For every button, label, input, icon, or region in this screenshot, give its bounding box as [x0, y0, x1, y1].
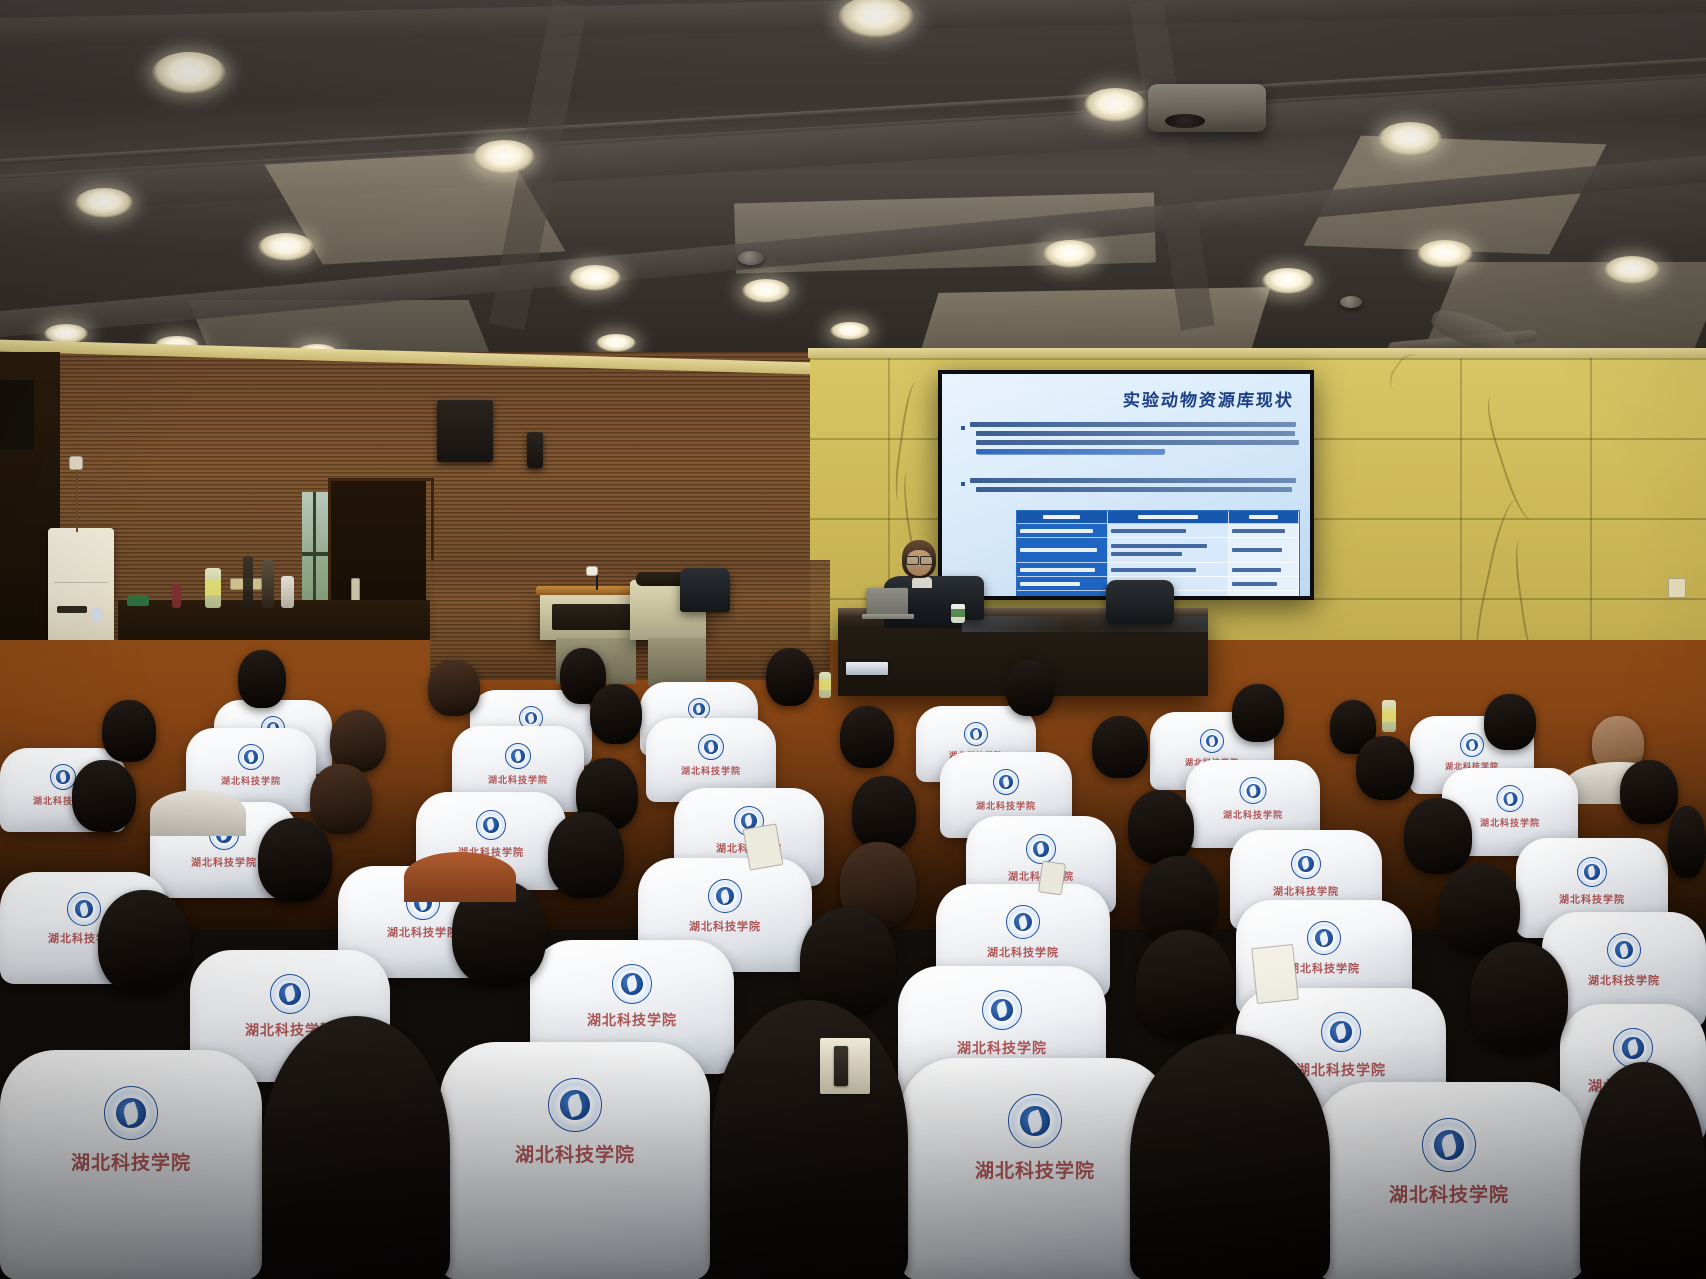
audience-head: [1128, 790, 1194, 864]
audience-head: [98, 890, 190, 994]
audience-head: [1356, 736, 1414, 800]
phone: [1038, 860, 1066, 895]
laptop: [867, 588, 908, 616]
lecture-hall-photo: 实验动物资源库现状: [0, 0, 1706, 1279]
audience-head: [590, 684, 642, 744]
audience-head: [330, 710, 386, 772]
table-row: [1017, 538, 1299, 563]
seat: 湖北科技学院: [1314, 1082, 1584, 1279]
wall-sign: [69, 456, 83, 470]
audience-head: [258, 818, 332, 902]
audience-head: [1006, 660, 1054, 716]
audience-head: [852, 776, 916, 850]
audience-head-foreground: [712, 1000, 908, 1279]
audience-head: [1404, 798, 1472, 874]
audience-head-foreground: [1580, 1062, 1706, 1279]
projection-screen: 实验动物资源库现状: [938, 370, 1314, 600]
audience-head: [1620, 760, 1678, 824]
seat: 湖北科技学院: [440, 1042, 710, 1279]
audience-shoulder: [150, 790, 246, 836]
water-bottle: [819, 672, 831, 698]
water-bottle-right: [1382, 700, 1396, 732]
audience-head: [310, 764, 372, 834]
wall-speaker: [437, 400, 493, 462]
projector: [1148, 84, 1266, 132]
audience-head: [1092, 716, 1148, 778]
notebook: [743, 823, 784, 870]
audience-head: [1232, 684, 1284, 742]
audience-head: [72, 760, 136, 832]
name-plate: [846, 662, 888, 675]
empty-chair-right: [1106, 580, 1174, 624]
audience-head: [1440, 864, 1520, 954]
audience-head: [1136, 930, 1234, 1040]
audience-shoulder: [404, 852, 516, 902]
audience-head: [766, 648, 814, 706]
audience-head: [840, 706, 894, 768]
table-row: [1017, 563, 1299, 577]
slide-title: 实验动物资源库现状: [1122, 386, 1295, 411]
slide-bullet-2: [970, 478, 1296, 496]
audience-head-foreground: [1130, 1034, 1330, 1279]
audience-head: [102, 700, 156, 762]
wall-socket: [1668, 578, 1686, 598]
side-chair: [680, 568, 730, 612]
audience-head: [1484, 694, 1536, 750]
audience-head: [238, 650, 286, 708]
notebook: [1251, 944, 1299, 1004]
audience-head-foreground: [262, 1016, 450, 1279]
ceiling: [0, 0, 1706, 360]
audience-head: [1668, 806, 1706, 878]
table-header-row: [1017, 511, 1299, 524]
audience-head: [428, 660, 480, 716]
audience-head: [1470, 942, 1568, 1054]
smoke-detector-icon: [738, 251, 764, 265]
table-row: [1017, 524, 1299, 538]
paper-cup: [951, 604, 965, 623]
slide-bullet-1: [970, 422, 1296, 458]
audience-head: [548, 812, 624, 898]
glasses-icon: [906, 556, 919, 565]
seat: 湖北科技学院: [0, 1050, 262, 1279]
